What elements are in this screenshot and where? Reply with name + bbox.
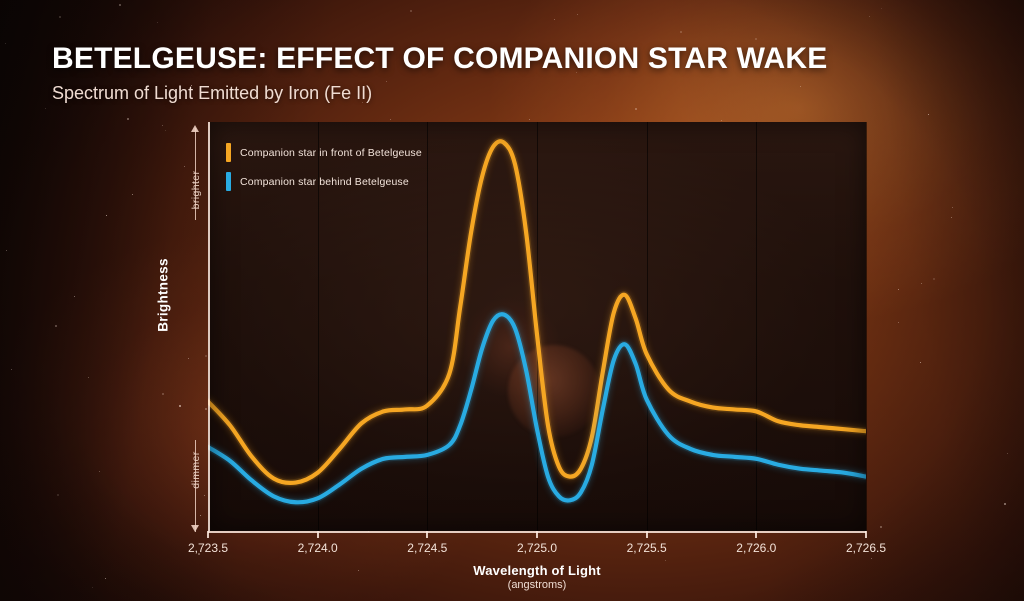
x-axis-tick-label: 2,725.5 <box>627 541 667 555</box>
page-title: BETELGEUSE: EFFECT OF COMPANION STAR WAK… <box>52 41 952 77</box>
x-axis-tick <box>755 531 757 538</box>
chart-legend: Companion star in front of BetelgeuseCom… <box>226 143 422 201</box>
legend-item-2[interactable]: Companion star behind Betelgeuse <box>226 172 422 191</box>
x-axis-tick <box>426 531 428 538</box>
x-axis-tick <box>317 531 319 538</box>
y-axis-down-arrow-shaft <box>195 440 196 532</box>
legend-item-label: Companion star behind Betelgeuse <box>240 176 409 188</box>
legend-item-label: Companion star in front of Betelgeuse <box>240 147 422 159</box>
x-axis-tick <box>207 531 209 538</box>
y-axis-brighter-label: brighter <box>190 171 202 210</box>
x-axis-tick-label: 2,724.5 <box>407 541 447 555</box>
x-axis-tick-label: 2,725.0 <box>517 541 557 555</box>
x-axis-tick-label: 2,723.5 <box>188 541 228 555</box>
x-axis-title: Wavelength of Light <box>208 563 866 578</box>
x-axis-tick <box>536 531 538 538</box>
legend-swatch-icon <box>226 143 231 162</box>
legend-swatch-icon <box>226 172 231 191</box>
x-axis-tick-label: 2,724.0 <box>298 541 338 555</box>
header: BETELGEUSE: EFFECT OF COMPANION STAR WAK… <box>52 41 952 104</box>
y-axis-title: Brightness <box>156 258 171 332</box>
y-axis-up-arrow-head <box>191 125 199 132</box>
x-axis-tick <box>865 531 867 538</box>
chart-plot-area: Companion star in front of BetelgeuseCom… <box>208 122 866 531</box>
x-axis-units: (angstroms) <box>208 579 866 591</box>
x-axis-tick <box>646 531 648 538</box>
x-axis-tick-label: 2,726.0 <box>736 541 776 555</box>
x-axis-tick-label: 2,726.5 <box>846 541 886 555</box>
x-axis: 2,723.52,724.02,724.52,725.02,725.52,726… <box>208 531 866 532</box>
y-axis-up-arrow-shaft <box>195 128 196 220</box>
infographic-root: BETELGEUSE: EFFECT OF COMPANION STAR WAK… <box>0 0 1024 601</box>
gridline <box>866 122 867 531</box>
y-axis-dimmer-label: dimmer <box>190 451 202 488</box>
page-subtitle: Spectrum of Light Emitted by Iron (Fe II… <box>52 82 952 104</box>
y-axis-down-arrow-head <box>191 525 199 532</box>
legend-item-1[interactable]: Companion star in front of Betelgeuse <box>226 143 422 162</box>
